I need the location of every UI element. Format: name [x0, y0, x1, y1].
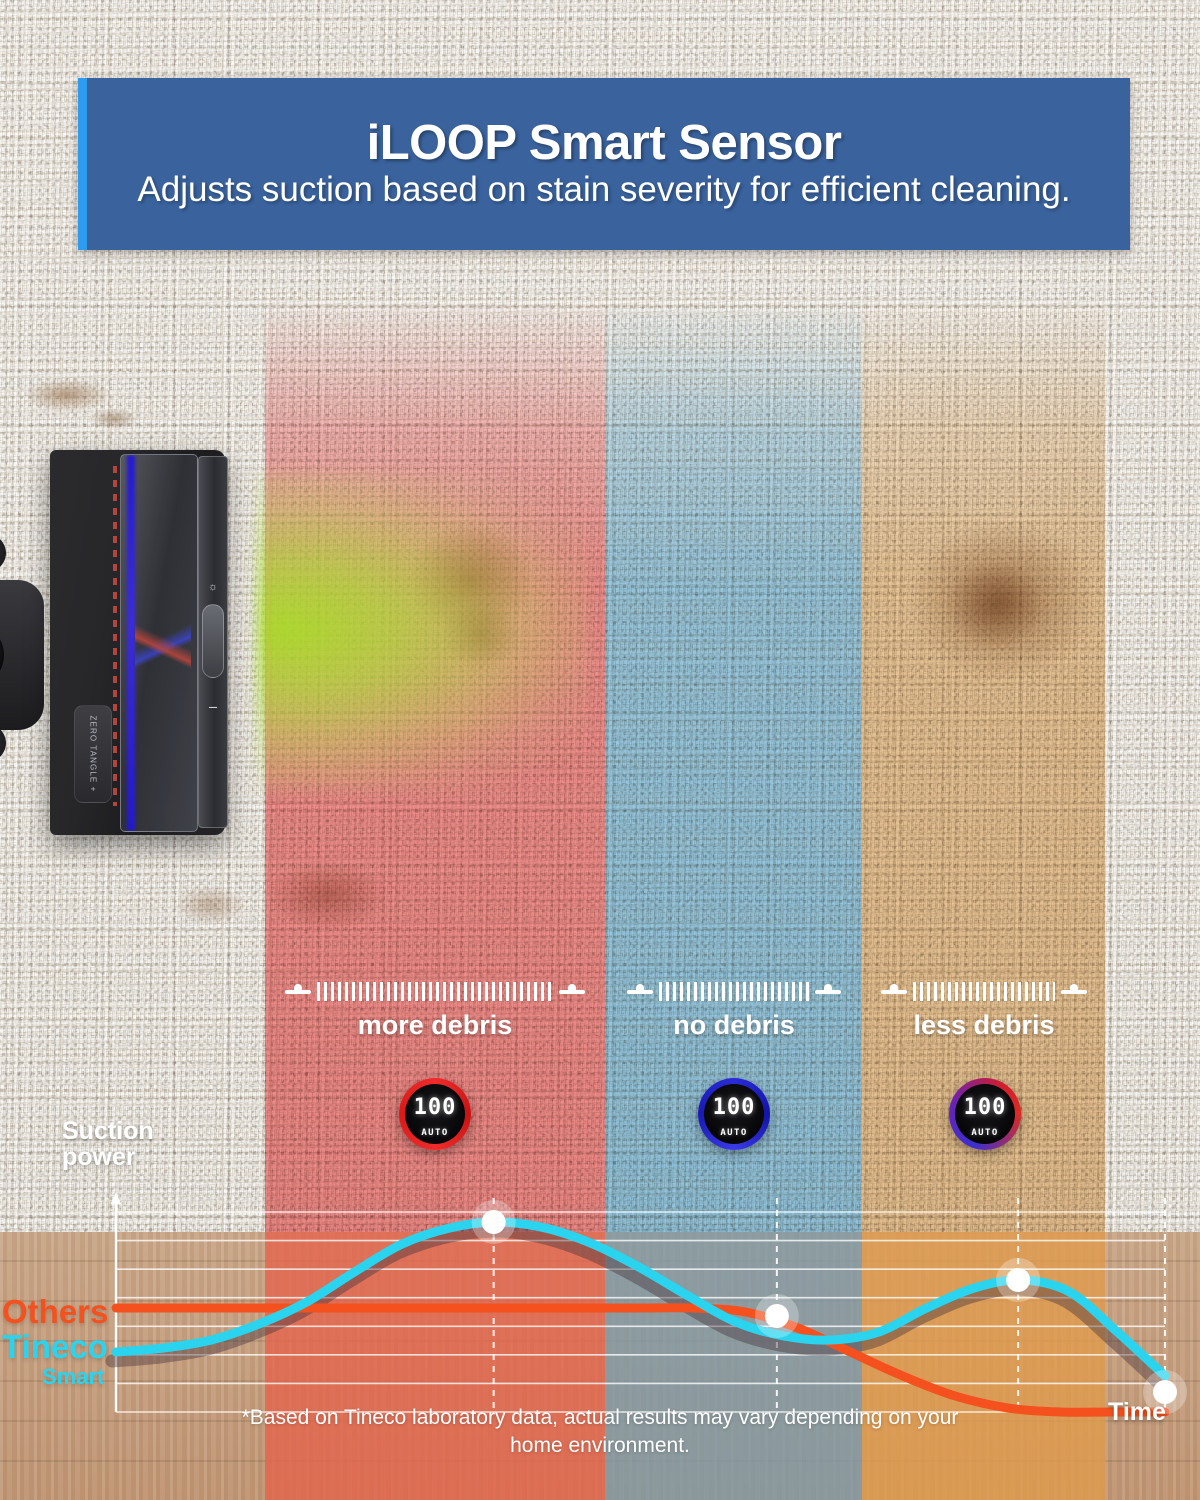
suction-gauge-less-debris: 100 AUTO [949, 1078, 1021, 1150]
gauge-value: 100 [414, 1097, 457, 1119]
debris-group-none: no debris [618, 978, 850, 1041]
legend-tineco: Tineco [2, 1328, 108, 1366]
suction-gauge-more-debris: 100 AUTO [399, 1078, 471, 1150]
debris-label-more: more debris [285, 1010, 585, 1041]
chart-marker-dot [482, 1210, 506, 1234]
nozzle-right-icon [1061, 984, 1087, 999]
gauge-face: 100 AUTO [704, 1084, 764, 1144]
swivel-joint [0, 580, 44, 730]
nozzle-left-icon [285, 984, 311, 999]
gauge-mode: AUTO [421, 1128, 448, 1138]
debris-divider-icon [618, 978, 850, 1004]
brush-roller [120, 454, 198, 832]
debris-group-more: more debris [285, 978, 585, 1041]
legend-tineco-sub: Smart [42, 1364, 104, 1390]
gauge-mode: AUTO [720, 1128, 747, 1138]
gauge-face: 100 AUTO [405, 1084, 465, 1144]
chart-marker-dot [1006, 1268, 1030, 1292]
gauge-face: 100 AUTO [955, 1084, 1015, 1144]
header-banner: iLOOP Smart Sensor Adjusts suction based… [78, 78, 1130, 250]
unlock-icon: ⚊ [206, 698, 220, 712]
debris-divider-icon [285, 978, 585, 1004]
bristle-bars-icon [317, 982, 554, 1001]
bristle-bars-icon [913, 982, 1055, 1001]
nozzle-right-icon [815, 984, 841, 999]
nozzle-right-icon [559, 984, 585, 999]
y-axis-arrow-icon [111, 1192, 121, 1204]
legend-others: Others [2, 1293, 108, 1331]
nozzle-left-icon [627, 984, 653, 999]
bristle-bars-icon [659, 982, 809, 1001]
debris-label-none: no debris [618, 1010, 850, 1041]
brush-stripe [113, 466, 117, 806]
debris-divider-icon [874, 978, 1094, 1004]
suction-gauge-no-debris: 100 AUTO [698, 1078, 770, 1150]
chart-footnote: *Based on Tineco laboratory data, actual… [240, 1404, 960, 1459]
chart-marker-dot [765, 1304, 789, 1328]
nozzle-left-icon [881, 984, 907, 999]
zero-tangle-badge-label: ZERO TANGLE + [89, 716, 98, 793]
banner-subtitle: Adjusts suction based on stain severity … [101, 169, 1106, 210]
chart-xlabel: Time [1108, 1398, 1166, 1427]
debris-group-less: less debris [874, 978, 1094, 1041]
infographic-canvas: ☼ ⚊ ZERO TANGLE + iLOOP Smart Sensor Adj… [0, 0, 1200, 1500]
gauge-mode: AUTO [971, 1128, 998, 1138]
roller-latch[interactable] [202, 604, 224, 678]
zero-tangle-badge: ZERO TANGLE + [74, 705, 112, 803]
chart-ylabel: Suction power [62, 1118, 192, 1171]
gauge-value: 100 [964, 1097, 1007, 1119]
wheel-icon [0, 530, 6, 576]
debris-label-less: less debris [874, 1010, 1094, 1041]
banner-title: iLOOP Smart Sensor [367, 118, 842, 169]
gauge-value: 100 [713, 1097, 756, 1119]
vacuum-cleaner-head: ☼ ⚊ ZERO TANGLE + [0, 450, 260, 845]
brightness-icon: ☼ [206, 580, 220, 594]
